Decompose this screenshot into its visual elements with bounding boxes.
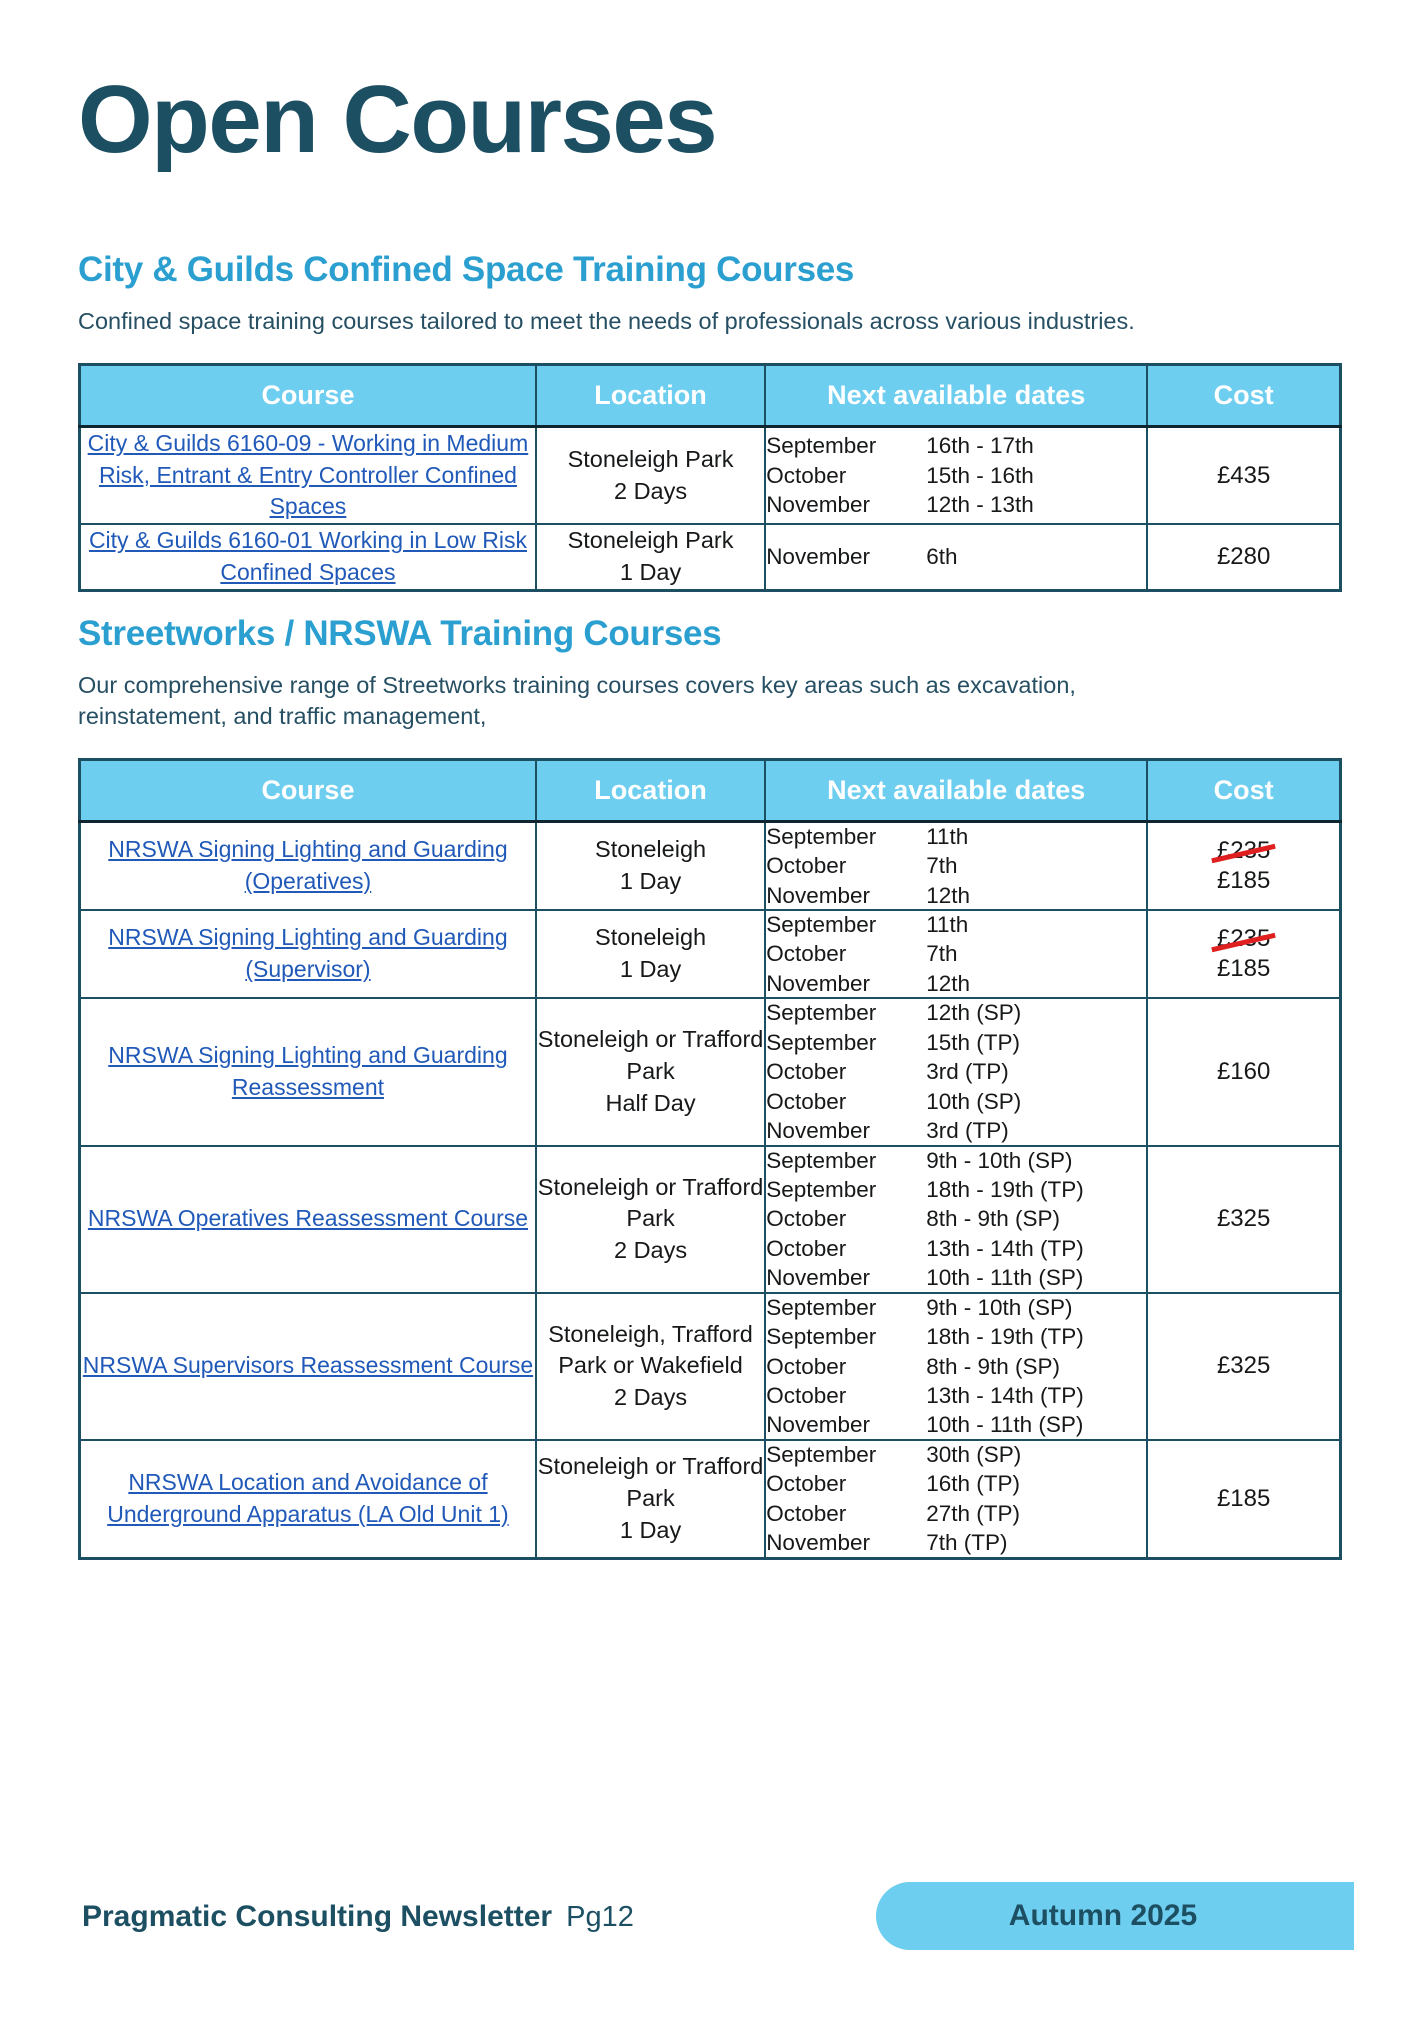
current-price: £280: [1217, 543, 1270, 570]
date-day: 18th - 19th (TP): [926, 1323, 1146, 1350]
date-month: October: [766, 1058, 926, 1085]
footer-left-group: Pragmatic Consulting Newsletter Pg12: [82, 1900, 634, 1934]
date-month: October: [766, 1088, 926, 1115]
column-header-next-available-dates: Next available dates: [765, 759, 1147, 821]
date-day: 8th - 9th (SP): [926, 1205, 1146, 1232]
date-list: November6th: [766, 543, 1146, 570]
cell-location: Stoneleigh1 Day: [536, 910, 765, 998]
cell-course: NRSWA Signing Lighting and Guarding (Ope…: [80, 821, 536, 910]
date-month: November: [766, 543, 926, 570]
date-month: October: [766, 1470, 926, 1497]
cell-next-available-dates: September11thOctober7thNovember12th: [765, 910, 1147, 998]
course-link[interactable]: NRSWA Operatives Reassessment Course: [88, 1203, 528, 1235]
cell-location: Stoneleigh Park2 Days: [536, 427, 765, 525]
date-month: September: [766, 1147, 926, 1174]
table-header-row: Course Location Next available dates Cos…: [80, 759, 1341, 821]
cell-course: NRSWA Operatives Reassessment Course: [80, 1146, 536, 1293]
date-month: September: [766, 911, 926, 938]
footer-season-label: Autumn 2025: [1009, 1899, 1221, 1933]
date-month: November: [766, 1529, 926, 1556]
table-row: NRSWA Supervisors Reassessment CourseSto…: [80, 1293, 1341, 1440]
footer-season-pill: Autumn 2025: [876, 1882, 1354, 1950]
cell-location: Stoneleigh or Trafford ParkHalf Day: [536, 998, 765, 1145]
current-price: £185: [1217, 955, 1270, 982]
current-price: £325: [1217, 1352, 1270, 1379]
course-link[interactable]: City & Guilds 6160-01 Working in Low Ris…: [81, 525, 535, 588]
course-link[interactable]: City & Guilds 6160-09 - Working in Mediu…: [81, 428, 535, 523]
date-list: September30th (SP)October16th (TP)Octobe…: [766, 1441, 1146, 1557]
column-header-location: Location: [536, 365, 765, 427]
table-row: NRSWA Signing Lighting and Guarding Reas…: [80, 998, 1341, 1145]
footer-page-number: Pg12: [566, 1901, 634, 1934]
date-day: 12th - 13th: [926, 491, 1146, 518]
date-month: November: [766, 882, 926, 909]
confined-space-courses-table: Course Location Next available dates Cos…: [78, 363, 1342, 592]
cell-course: City & Guilds 6160-01 Working in Low Ris…: [80, 524, 536, 590]
date-list: September9th - 10th (SP)September18th - …: [766, 1147, 1146, 1292]
date-day: 11th: [926, 823, 1146, 850]
table-row: NRSWA Signing Lighting and Guarding (Sup…: [80, 910, 1341, 998]
date-day: 10th - 11th (SP): [926, 1264, 1146, 1291]
current-price: £435: [1217, 462, 1270, 489]
footer-brand: Pragmatic Consulting Newsletter: [82, 1900, 552, 1934]
date-day: 18th - 19th (TP): [926, 1176, 1146, 1203]
cell-cost: £235£185: [1147, 910, 1340, 998]
section-heading-streetworks: Streetworks / NRSWA Training Courses: [78, 592, 1350, 654]
course-link[interactable]: NRSWA Location and Avoidance of Undergro…: [81, 1467, 535, 1530]
date-month: October: [766, 1235, 926, 1262]
date-list: September11thOctober7thNovember12th: [766, 911, 1146, 997]
date-day: 7th: [926, 940, 1146, 967]
streetworks-table-body: NRSWA Signing Lighting and Guarding (Ope…: [80, 821, 1341, 1558]
cell-next-available-dates: September9th - 10th (SP)September18th - …: [765, 1293, 1147, 1440]
page-footer: Pragmatic Consulting Newsletter Pg12 Aut…: [0, 1882, 1428, 2018]
date-day: 15th (TP): [926, 1029, 1146, 1056]
date-day: 8th - 9th (SP): [926, 1353, 1146, 1380]
date-month: September: [766, 1323, 926, 1350]
page-title: Open Courses: [78, 0, 1350, 168]
cell-cost: £235£185: [1147, 821, 1340, 910]
date-month: September: [766, 1176, 926, 1203]
date-day: 12th (SP): [926, 999, 1146, 1026]
date-month: November: [766, 1117, 926, 1144]
date-day: 10th - 11th (SP): [926, 1411, 1146, 1438]
date-day: 7th: [926, 852, 1146, 879]
cell-course: NRSWA Location and Avoidance of Undergro…: [80, 1440, 536, 1558]
date-day: 16th (TP): [926, 1470, 1146, 1497]
section-intro-confined-space: Confined space training courses tailored…: [78, 306, 1198, 337]
date-month: October: [766, 852, 926, 879]
date-month: October: [766, 940, 926, 967]
table-row: City & Guilds 6160-01 Working in Low Ris…: [80, 524, 1341, 590]
course-link[interactable]: NRSWA Signing Lighting and Guarding Reas…: [81, 1040, 535, 1103]
column-header-cost: Cost: [1147, 759, 1340, 821]
current-price: £160: [1217, 1058, 1270, 1085]
confined-space-table-body: City & Guilds 6160-09 - Working in Mediu…: [80, 427, 1341, 591]
table-row: NRSWA Signing Lighting and Guarding (Ope…: [80, 821, 1341, 910]
date-month: November: [766, 1264, 926, 1291]
column-header-course: Course: [80, 759, 536, 821]
cell-next-available-dates: November6th: [765, 524, 1147, 590]
newsletter-page: Open Courses City & Guilds Confined Spac…: [0, 0, 1428, 2018]
cell-cost: £435: [1147, 427, 1340, 525]
date-day: 27th (TP): [926, 1500, 1146, 1527]
column-header-course: Course: [80, 365, 536, 427]
date-day: 9th - 10th (SP): [926, 1294, 1146, 1321]
date-day: 30th (SP): [926, 1441, 1146, 1468]
date-day: 13th - 14th (TP): [926, 1235, 1146, 1262]
date-day: 11th: [926, 911, 1146, 938]
date-month: September: [766, 999, 926, 1026]
cell-next-available-dates: September9th - 10th (SP)September18th - …: [765, 1146, 1147, 1293]
date-day: 13th - 14th (TP): [926, 1382, 1146, 1409]
date-month: September: [766, 1441, 926, 1468]
date-month: October: [766, 1353, 926, 1380]
current-price: £185: [1217, 867, 1270, 894]
date-day: 12th: [926, 882, 1146, 909]
cell-next-available-dates: September11thOctober7thNovember12th: [765, 821, 1147, 910]
column-header-cost: Cost: [1147, 365, 1340, 427]
date-day: 10th (SP): [926, 1088, 1146, 1115]
date-month: November: [766, 491, 926, 518]
current-price: £185: [1217, 1485, 1270, 1512]
column-header-next-available-dates: Next available dates: [765, 365, 1147, 427]
table-header-row: Course Location Next available dates Cos…: [80, 365, 1341, 427]
date-month: September: [766, 1294, 926, 1321]
table-row: NRSWA Location and Avoidance of Undergro…: [80, 1440, 1341, 1558]
cell-cost: £160: [1147, 998, 1340, 1145]
date-list: September9th - 10th (SP)September18th - …: [766, 1294, 1146, 1439]
cell-course: City & Guilds 6160-09 - Working in Mediu…: [80, 427, 536, 525]
course-link[interactable]: NRSWA Signing Lighting and Guarding (Sup…: [81, 922, 535, 985]
date-month: September: [766, 823, 926, 850]
cell-location: Stoneleigh, Trafford Park or Wakefield2 …: [536, 1293, 765, 1440]
date-month: September: [766, 1029, 926, 1056]
course-link[interactable]: NRSWA Supervisors Reassessment Course: [83, 1350, 533, 1382]
cell-cost: £325: [1147, 1293, 1340, 1440]
cell-location: Stoneleigh or Trafford Park2 Days: [536, 1146, 765, 1293]
cell-cost: £185: [1147, 1440, 1340, 1558]
date-month: November: [766, 1411, 926, 1438]
cell-next-available-dates: September16th - 17thOctober15th - 16thNo…: [765, 427, 1147, 525]
date-list: September12th (SP)September15th (TP)Octo…: [766, 999, 1146, 1144]
cell-location: Stoneleigh1 Day: [536, 821, 765, 910]
date-day: 16th - 17th: [926, 432, 1146, 459]
date-day: 6th: [926, 543, 1146, 570]
cell-course: NRSWA Supervisors Reassessment Course: [80, 1293, 536, 1440]
cell-cost: £280: [1147, 524, 1340, 590]
date-month: November: [766, 970, 926, 997]
current-price: £325: [1217, 1205, 1270, 1232]
date-day: 15th - 16th: [926, 462, 1146, 489]
date-month: October: [766, 462, 926, 489]
cell-next-available-dates: September12th (SP)September15th (TP)Octo…: [765, 998, 1147, 1145]
cell-next-available-dates: September30th (SP)October16th (TP)Octobe…: [765, 1440, 1147, 1558]
date-month: October: [766, 1205, 926, 1232]
date-day: 12th: [926, 970, 1146, 997]
date-day: 7th (TP): [926, 1529, 1146, 1556]
cell-location: Stoneleigh or Trafford Park1 Day: [536, 1440, 765, 1558]
cell-course: NRSWA Signing Lighting and Guarding Reas…: [80, 998, 536, 1145]
date-month: September: [766, 432, 926, 459]
date-month: October: [766, 1382, 926, 1409]
column-header-location: Location: [536, 759, 765, 821]
course-link[interactable]: NRSWA Signing Lighting and Guarding (Ope…: [81, 834, 535, 897]
cell-cost: £325: [1147, 1146, 1340, 1293]
cell-course: NRSWA Signing Lighting and Guarding (Sup…: [80, 910, 536, 998]
date-day: 9th - 10th (SP): [926, 1147, 1146, 1174]
section-intro-streetworks: Our comprehensive range of Streetworks t…: [78, 670, 1198, 732]
streetworks-courses-table: Course Location Next available dates Cos…: [78, 758, 1342, 1560]
cell-location: Stoneleigh Park1 Day: [536, 524, 765, 590]
date-month: October: [766, 1500, 926, 1527]
date-day: 3rd (TP): [926, 1117, 1146, 1144]
date-list: September16th - 17thOctober15th - 16thNo…: [766, 432, 1146, 518]
table-row: NRSWA Operatives Reassessment CourseSton…: [80, 1146, 1341, 1293]
section-heading-confined-space: City & Guilds Confined Space Training Co…: [78, 168, 1350, 290]
original-price-struck: £235: [1217, 836, 1270, 866]
date-list: September11thOctober7thNovember12th: [766, 823, 1146, 909]
table-row: City & Guilds 6160-09 - Working in Mediu…: [80, 427, 1341, 525]
original-price-struck: £235: [1217, 924, 1270, 954]
date-day: 3rd (TP): [926, 1058, 1146, 1085]
